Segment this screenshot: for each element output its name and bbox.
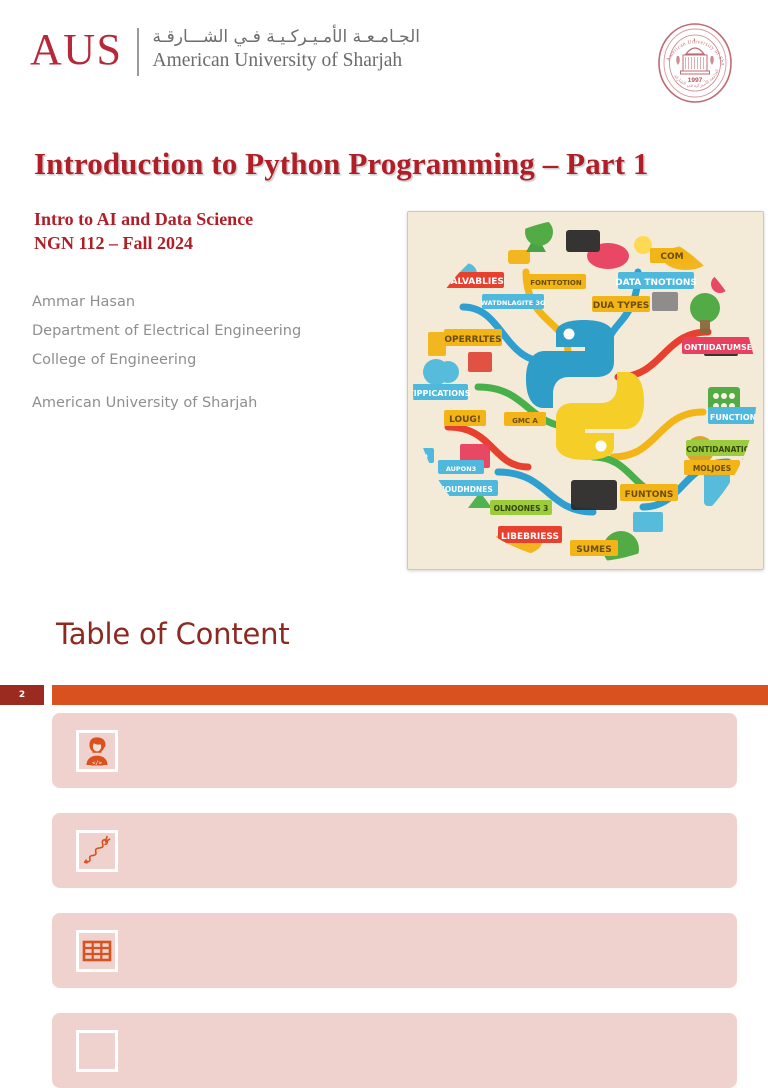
title-slide: AUS الجـامـعـة الأمـيـركـيـة فـي الشـــا… — [0, 0, 768, 682]
svg-text:DATA TNOTIONS: DATA TNOTIONS — [615, 278, 697, 288]
university-seal-icon: American University of Sharjah الجامعة ا… — [656, 22, 734, 104]
accent-bar — [52, 685, 768, 705]
author-info: Ammar Hasan Department of Electrical Eng… — [32, 288, 301, 418]
toc-item-2[interactable] — [52, 813, 737, 888]
svg-text:AUPON3: AUPON3 — [446, 465, 476, 473]
page-number-badge: 2 — [0, 685, 44, 705]
python-concept-illustration: VALVABLIES FONTTOTION DATA TNOTIONS COM … — [407, 211, 764, 570]
svg-text:COM: COM — [660, 252, 683, 262]
author-college: College of Engineering — [32, 346, 301, 375]
aus-acronym-logo: AUS — [30, 28, 123, 72]
author-name: Ammar Hasan — [32, 288, 301, 317]
course-info: Intro to AI and Data Science NGN 112 – F… — [34, 208, 253, 256]
brand-divider — [137, 28, 139, 76]
brand-name-block: الجـامـعـة الأمـيـركـيـة فـي الشـــارقـة… — [153, 26, 420, 73]
svg-text:LIBEBRIESS: LIBEBRIESS — [501, 532, 559, 542]
svg-text:FUNTONS: FUNTONS — [625, 490, 674, 500]
svg-text:LOUG!: LOUG! — [449, 415, 481, 425]
svg-text:GMC A: GMC A — [512, 417, 538, 425]
svg-text:FONTTOTION: FONTTOTION — [530, 279, 582, 287]
svg-text:VIPPICATIONS: VIPPICATIONS — [408, 389, 471, 398]
toc-heading: Table of Content — [56, 617, 290, 651]
aus-brand-lockup: AUS الجـامـعـة الأمـيـركـيـة فـي الشـــا… — [30, 26, 420, 76]
toc-item-4[interactable] — [52, 1013, 737, 1088]
svg-text:American University of Sharjah: American University of Sharjah — [656, 22, 726, 67]
table-of-content-slide: Table of Content 2 </> — [0, 605, 768, 1024]
author-institution: American University of Sharjah — [32, 389, 301, 418]
author-spacer — [32, 375, 301, 389]
svg-text:ONTIIDATUMSES: ONTIIDATUMSES — [684, 343, 758, 352]
svg-text:1997: 1997 — [688, 77, 703, 84]
svg-text:</>: </> — [92, 760, 102, 766]
svg-text:MOLJOES: MOLJOES — [693, 464, 731, 473]
svg-text:OLNOONES 3: OLNOONES 3 — [494, 504, 549, 513]
table-grid-icon — [76, 930, 118, 972]
svg-text:WATDNLAGITE 3G: WATDNLAGITE 3G — [481, 299, 546, 307]
snake-icon — [76, 830, 118, 872]
svg-text:OPERRLTES: OPERRLTES — [444, 335, 501, 345]
brand-english-name: American University of Sharjah — [153, 49, 420, 72]
course-code-term: NGN 112 – Fall 2024 — [34, 232, 253, 256]
author-department: Department of Electrical Engineering — [32, 317, 301, 346]
toc-item-3[interactable] — [52, 913, 737, 988]
toc-item-1[interactable]: </> — [52, 713, 737, 788]
course-name: Intro to AI and Data Science — [34, 208, 253, 232]
blank-icon — [76, 1030, 118, 1072]
svg-text:DUA TYPES: DUA TYPES — [593, 301, 649, 311]
brand-arabic-name: الجـامـعـة الأمـيـركـيـة فـي الشـــارقـة — [153, 27, 420, 48]
programmer-icon: </> — [76, 730, 118, 772]
svg-text:SUMES: SUMES — [576, 545, 611, 555]
page-title: Introduction to Python Programming – Par… — [34, 146, 744, 182]
